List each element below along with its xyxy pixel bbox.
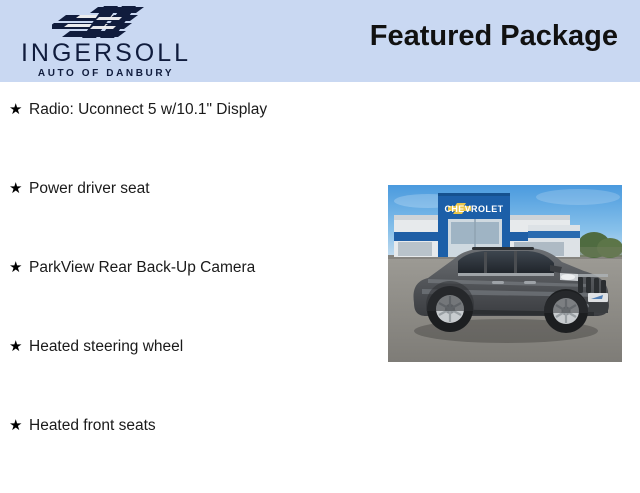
page-header: INGERSOLL AUTO OF DANBURY Featured Packa… bbox=[0, 0, 640, 82]
list-item: ★ Radio: Uconnect 5 w/10.1" Display bbox=[0, 98, 380, 177]
feature-label: Heated front seats bbox=[29, 414, 380, 438]
dealer-logo[interactable]: INGERSOLL AUTO OF DANBURY bbox=[0, 2, 212, 82]
feature-label: Heated steering wheel bbox=[29, 335, 380, 359]
page-title: Featured Package bbox=[370, 20, 618, 53]
star-bullet-icon: ★ bbox=[9, 177, 29, 201]
star-bullet-icon: ★ bbox=[9, 335, 29, 359]
list-item: ★ Heated steering wheel bbox=[0, 335, 380, 414]
feature-label: Radio: Uconnect 5 w/10.1" Display bbox=[29, 98, 380, 122]
star-bullet-icon: ★ bbox=[9, 256, 29, 280]
feature-label: Power driver seat bbox=[29, 177, 380, 201]
star-bullet-icon: ★ bbox=[9, 414, 29, 438]
star-bullet-icon: ★ bbox=[9, 98, 29, 122]
list-item: ★ Heated front seats bbox=[0, 414, 380, 493]
feature-list: ★ Radio: Uconnect 5 w/10.1" Display ★ Po… bbox=[0, 98, 380, 493]
brand-wordmark: INGERSOLL bbox=[0, 40, 212, 66]
list-item: ★ Power driver seat bbox=[0, 177, 380, 256]
list-item: ★ ParkView Rear Back-Up Camera bbox=[0, 256, 380, 335]
vehicle-photo[interactable]: CHEVROLET bbox=[388, 185, 622, 362]
svg-text:CHEVROLET: CHEVROLET bbox=[444, 204, 503, 214]
feature-label: ParkView Rear Back-Up Camera bbox=[29, 256, 380, 280]
brand-tagline: AUTO OF DANBURY bbox=[0, 68, 212, 80]
ingersoll-wing-icon bbox=[52, 5, 156, 39]
